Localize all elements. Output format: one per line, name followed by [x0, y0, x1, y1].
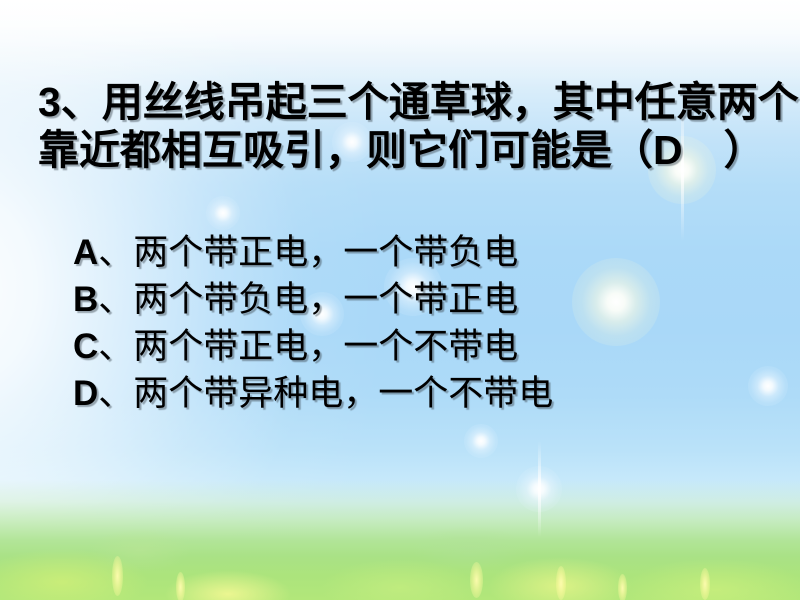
option-a-marker: A: [73, 233, 98, 272]
option-b-marker: B: [73, 280, 98, 319]
option-b-separator: 、: [98, 280, 133, 320]
option-d-separator: 、: [98, 374, 133, 414]
option-d[interactable]: D、两个带异种电，一个不带电: [73, 373, 553, 415]
option-c-text: 两个带正电，一个不带电: [133, 327, 518, 367]
option-d-marker: D: [73, 374, 98, 413]
question-number-mark: 、: [61, 78, 102, 126]
question-text-line-2-suffix: ）: [683, 126, 765, 174]
option-b-text: 两个带负电，一个带正电: [133, 280, 518, 320]
slide-canvas: 3、用丝线吊起三个通草球，其中任意两个 靠近都相互吸引，则它们可能是（D ） A…: [0, 0, 800, 600]
question-line-2: 靠近都相互吸引，则它们可能是（D ）: [38, 126, 765, 174]
option-a[interactable]: A、两个带正电，一个带负电: [73, 232, 518, 274]
question-line-1: 3、用丝线吊起三个通草球，其中任意两个: [38, 78, 799, 126]
option-b[interactable]: B、两个带负电，一个带正电: [73, 279, 518, 321]
option-d-text: 两个带异种电，一个不带电: [133, 374, 553, 414]
question-text-line-2-prefix: 靠近都相互吸引，则它们可能是（: [38, 126, 653, 174]
option-a-text: 两个带正电，一个带负电: [133, 233, 518, 273]
option-c-marker: C: [73, 327, 98, 366]
question-text-line-1: 用丝线吊起三个通草球，其中任意两个: [102, 78, 799, 126]
option-c[interactable]: C、两个带正电，一个不带电: [73, 326, 518, 368]
slide-content: 3、用丝线吊起三个通草球，其中任意两个 靠近都相互吸引，则它们可能是（D ） A…: [0, 0, 800, 600]
option-c-separator: 、: [98, 327, 133, 367]
answer-letter: D: [653, 127, 683, 173]
question-number: 3: [38, 79, 61, 125]
option-a-separator: 、: [98, 233, 133, 273]
